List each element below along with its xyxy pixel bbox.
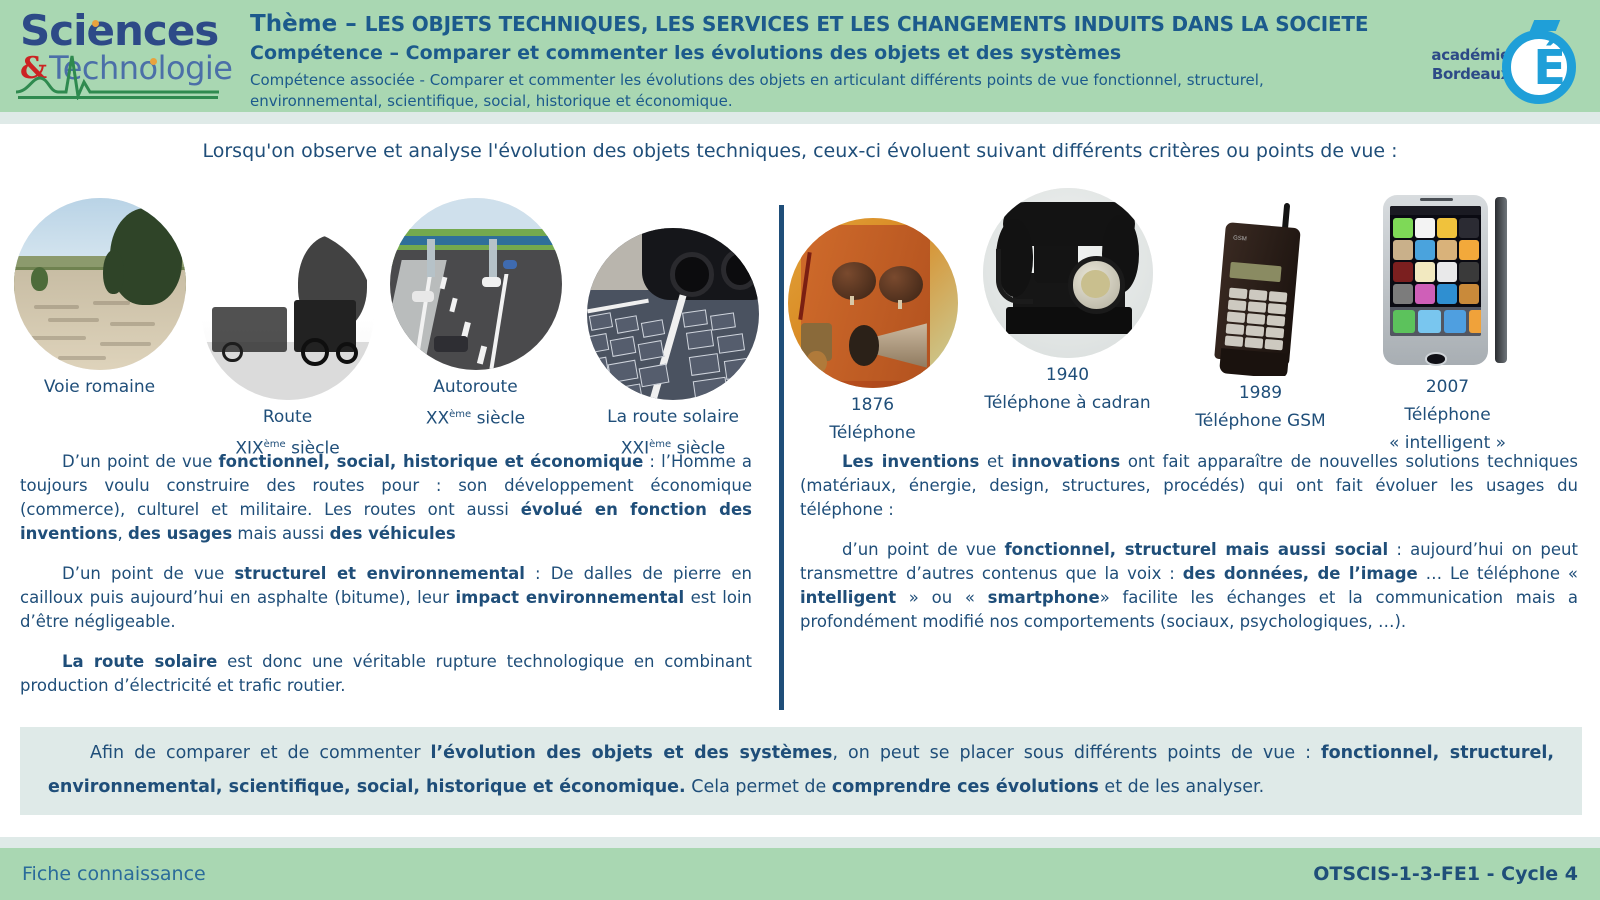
- theme-label: Thème –: [250, 11, 365, 37]
- academie-bordeaux-logo: académie Bordeaux É: [1422, 8, 1582, 108]
- caption-autoroute-line2: XXème siècle: [388, 404, 563, 430]
- right-column-telephones: 1876 Téléphone: [790, 190, 1590, 650]
- intro-sentence: Lorsqu'on observe et analyse l'évolution…: [0, 138, 1600, 164]
- caption-1989-label: Téléphone GSM: [1168, 410, 1353, 432]
- fiche-connaissance-page: Sciences & Technologie Thème – LES OBJET…: [0, 0, 1600, 900]
- caption-solaire-line2: XXIème siècle: [583, 434, 763, 460]
- academie-letter-e: É: [1533, 42, 1566, 94]
- page-footer: Fiche connaissance OTSCIS-1-3-FE1 - Cycl…: [0, 848, 1600, 900]
- caption-route-sup: ème: [264, 439, 286, 450]
- figure-route-solaire: La route solaire XXIème siècle: [583, 228, 763, 460]
- caption-autoroute-sup: ème: [449, 409, 471, 420]
- figure-telephone-1940: 1940 Téléphone à cadran: [975, 188, 1160, 414]
- figure-route-19e: Route XIXème siècle: [200, 228, 375, 460]
- caption-2007-year: 2007: [1355, 376, 1540, 398]
- right-paragraph-2: d’un point de vue fonctionnel, structure…: [790, 538, 1590, 634]
- left-paragraph-3: La route solaire est donc une véritable …: [0, 650, 770, 698]
- image-telephone-gsm: GSM: [1176, 196, 1346, 376]
- caption-voie-romaine: Voie romaine: [12, 376, 187, 398]
- caption-2007-label2: « intelligent »: [1355, 432, 1540, 454]
- logo-dot-orange-2: [150, 58, 157, 65]
- gsm-brand-text: GSM: [1233, 235, 1247, 242]
- caption-route-19e-line2: XIXème siècle: [200, 434, 375, 460]
- header-titles: Thème – LES OBJETS TECHNIQUES, LES SERVI…: [250, 0, 1600, 112]
- caption-autoroute-siecle: siècle: [471, 409, 525, 429]
- image-telephone-smartphone: [1363, 190, 1533, 370]
- image-voie-romaine: [14, 198, 186, 370]
- sciences-technologie-logo: Sciences & Technologie: [0, 0, 250, 112]
- caption-1989-year: 1989: [1168, 382, 1353, 404]
- caption-1876-label: Téléphone: [780, 422, 965, 444]
- roads-figure-row: Voie romaine Route: [0, 190, 770, 450]
- logo-dot-orange: [92, 20, 99, 27]
- image-route-19e: [202, 228, 374, 400]
- figure-voie-romaine: Voie romaine: [12, 198, 187, 398]
- caption-1940-label: Téléphone à cadran: [975, 392, 1160, 414]
- image-telephone-1876: [788, 218, 958, 388]
- summary-box: Afin de comparer et de commenter l’évolu…: [20, 727, 1582, 815]
- header-divider-strip: [0, 112, 1600, 124]
- logo-underline: [18, 96, 218, 99]
- caption-solaire-siecle: siècle: [671, 439, 725, 459]
- figure-autoroute: Autoroute XXème siècle: [388, 198, 563, 430]
- left-paragraph-1: D’un point de vue fonctionnel, social, h…: [0, 450, 770, 546]
- caption-route-century: XIX: [235, 439, 263, 459]
- caption-solaire-line1: La route solaire: [583, 406, 763, 428]
- theme-line: Thème – LES OBJETS TECHNIQUES, LES SERVI…: [250, 10, 1600, 39]
- footer-doc-type: Fiche connaissance: [22, 863, 206, 885]
- caption-solaire-century: XXI: [621, 439, 649, 459]
- theme-title: LES OBJETS TECHNIQUES, LES SERVICES ET L…: [365, 12, 1369, 36]
- caption-route-19e-line1: Route: [200, 406, 375, 428]
- page-header: Sciences & Technologie Thème – LES OBJET…: [0, 0, 1600, 112]
- caption-1876-year: 1876: [780, 394, 965, 416]
- image-autoroute: [390, 198, 562, 370]
- ecg-wave-icon: [14, 48, 224, 100]
- footer-divider-strip: [0, 837, 1600, 848]
- figure-telephone-gsm: GSM 1989 Téléphone GSM: [1168, 196, 1353, 432]
- competence-associee: Compétence associée - Comparer et commen…: [250, 70, 1380, 112]
- footer-doc-code: OTSCIS-1-3-FE1 - Cycle 4: [1313, 863, 1578, 885]
- left-paragraph-2: D’un point de vue structurel et environn…: [0, 562, 770, 634]
- academie-label: académie Bordeaux: [1431, 46, 1510, 84]
- image-telephone-1940: [983, 188, 1153, 358]
- caption-autoroute-line1: Autoroute: [388, 376, 563, 398]
- caption-autoroute-century: XX: [426, 409, 449, 429]
- caption-1940-year: 1940: [975, 364, 1160, 386]
- image-route-solaire: [587, 228, 759, 400]
- figure-telephone-1876: 1876 Téléphone: [780, 218, 965, 444]
- competence-line: Compétence – Comparer et commenter les é…: [250, 40, 1600, 66]
- academie-line2: Bordeaux: [1431, 65, 1510, 84]
- academie-accent-mark: [1530, 20, 1560, 31]
- figure-telephone-smartphone: 2007 Téléphone « intelligent »: [1355, 190, 1540, 454]
- left-column-roads: Voie romaine Route: [0, 190, 770, 714]
- caption-solaire-sup: ème: [649, 439, 671, 450]
- caption-2007-label: Téléphone: [1355, 404, 1540, 426]
- telephones-figure-row: 1876 Téléphone: [790, 190, 1590, 450]
- caption-route-siecle: siècle: [286, 439, 340, 459]
- right-paragraph-1: Les inventions et innovations ont fait a…: [790, 450, 1590, 522]
- academie-line1: académie: [1431, 46, 1510, 65]
